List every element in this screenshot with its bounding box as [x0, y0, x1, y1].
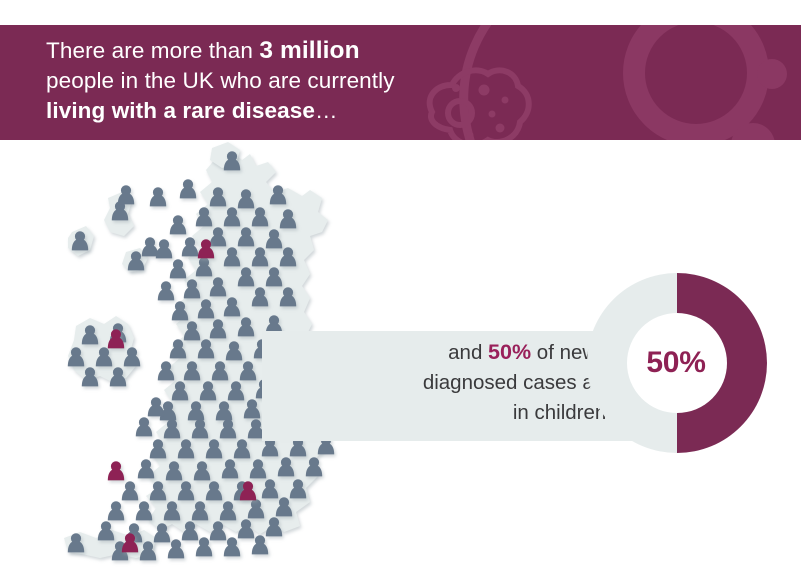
headline-metric: 3 million — [259, 37, 359, 64]
header-headline: There are more than 3 million people in … — [46, 36, 606, 126]
header-banner: There are more than 3 million people in … — [0, 25, 801, 140]
callout-line-1: and 50% of newly — [300, 337, 612, 368]
callout-percentage: 50% — [488, 340, 531, 364]
headline-ellipsis: … — [315, 98, 338, 123]
donut-hole — [627, 313, 727, 413]
headline-line-3: living with a rare disease… — [46, 96, 606, 126]
headline-line-1-plain: There are more than — [46, 38, 259, 63]
donut-chart-icon — [582, 268, 772, 458]
callout-text: and 50% of newly diagnosed cases are in … — [300, 337, 612, 428]
callout-line-1-prefix: and — [448, 341, 488, 364]
infographic-root: { "theme": { "brand_plum": "#7b2a54", "a… — [0, 0, 801, 587]
headline-line-2: people in the UK who are currently — [46, 66, 606, 96]
highlight-person-wales — [108, 461, 124, 480]
headline-line-1: There are more than 3 million — [46, 36, 606, 66]
callout-line-2: diagnosed cases are — [300, 368, 612, 398]
callout-line-3: in children. — [300, 398, 612, 428]
donut-chart — [582, 268, 772, 458]
headline-line-3-bold: living with a rare disease — [46, 98, 315, 123]
